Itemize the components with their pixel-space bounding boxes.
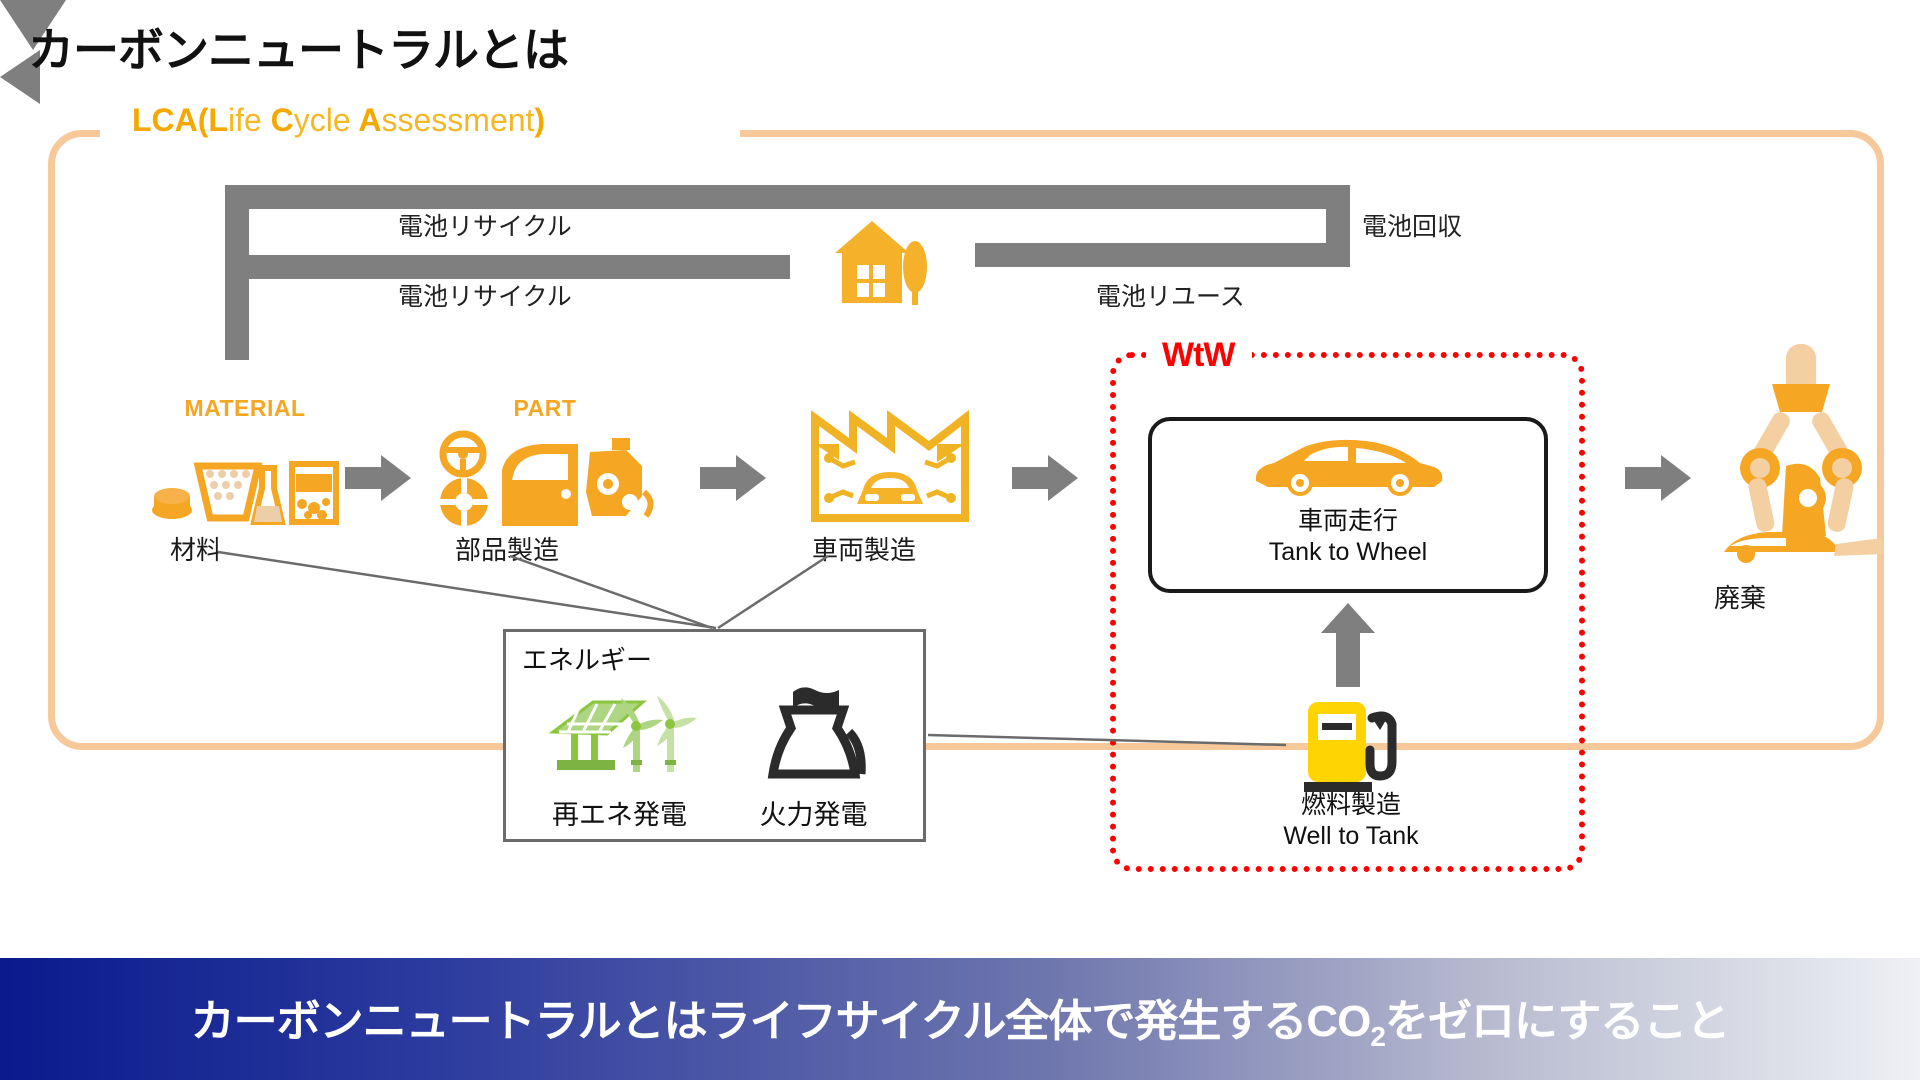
energy-thermal-label: 火力発電 [726, 793, 901, 832]
recycle-arrow-top-bar [225, 185, 1350, 209]
stage-part: PART [430, 395, 660, 535]
banner-text-after: をゼロにすること [1385, 997, 1729, 1046]
stage-vehicle [800, 400, 980, 530]
arrow-material-to-part [345, 455, 415, 501]
banner-co2-subscript: 2 [1370, 1021, 1385, 1052]
page-title: カーボンニュートラルとは [28, 14, 568, 80]
summary-banner-text: カーボンニュートラルとはライフサイクル全体で発生するCO2をゼロにすること [191, 985, 1730, 1053]
stage-part-caption: PART [430, 395, 660, 422]
tank-to-wheel-jp: 車両走行 [1269, 506, 1427, 537]
flow-label-collect: 電池回収 [1362, 207, 1462, 243]
part-icon [430, 422, 660, 535]
lca-a: A [358, 102, 381, 138]
well-to-tank-en: Well to Tank [1236, 821, 1466, 852]
energy-renewable-label: 再エネ発電 [532, 793, 707, 832]
lca-label: LCA(Life Cycle Assessment) [132, 102, 545, 139]
stage-label-part: 部品製造 [455, 530, 559, 567]
wtw-label: WtW [1162, 336, 1235, 375]
energy-thermal: 火力発電 [726, 684, 901, 832]
arrow-part-to-vehicle [700, 455, 770, 501]
tank-to-wheel-text: 車両走行 Tank to Wheel [1269, 506, 1427, 567]
lca-label-text: LCA( [132, 102, 208, 138]
lca-paren: ) [534, 102, 545, 138]
stage-label-dispose: 廃棄 [1714, 578, 1766, 615]
banner-text-before: カーボンニュートラルとはライフサイクル全体で発生するCO [191, 997, 1371, 1046]
energy-box: エネルギー [503, 629, 926, 842]
stage-label-vehicle: 車両製造 [812, 530, 916, 567]
material-icon [150, 422, 340, 532]
recycle-arrow-mid-bar [225, 255, 790, 279]
factory-icon [800, 400, 980, 530]
house-icon [825, 215, 940, 305]
well-to-tank-jp: 燃料製造 [1236, 790, 1466, 821]
fuel-pump-icon [1286, 690, 1416, 800]
tank-to-wheel-box: 車両走行 Tank to Wheel [1148, 417, 1548, 593]
arrow-vehicle-to-wtw [1012, 455, 1082, 501]
stage-label-material: 材料 [170, 530, 222, 567]
flow-label-reuse: 電池リユース [1096, 277, 1245, 313]
tank-to-wheel-en: Tank to Wheel [1269, 537, 1427, 568]
recycle-arrow-stem [225, 185, 249, 360]
flow-label-recycle-1: 電池リサイクル [398, 207, 572, 243]
flow-label-recycle-2: 電池リサイクル [398, 277, 572, 313]
collect-arrow-riser [1326, 185, 1350, 267]
slide-canvas: カーボンニュートラルとは LCA(Life Cycle Assessment) … [0, 0, 1920, 1080]
car-icon [1248, 429, 1448, 504]
arrow-wtw-to-dispose [1625, 455, 1695, 501]
summary-banner: カーボンニュートラルとはライフサイクル全体で発生するCO2をゼロにすること [0, 958, 1920, 1080]
well-to-tank-text: 燃料製造 Well to Tank [1236, 790, 1466, 851]
lca-c: C [271, 102, 294, 138]
energy-box-title: エネルギー [522, 640, 652, 677]
dismantling-robot-icon [1716, 338, 1886, 568]
lca-ycle: ycle [294, 102, 351, 138]
arrow-fuel-to-vehicle [1318, 603, 1378, 687]
energy-renewable: 再エネ発電 [532, 684, 707, 832]
reuse-arrow-bar [975, 243, 1335, 267]
stage-material: MATERIAL [150, 395, 340, 532]
lca-ife: ife [228, 102, 262, 138]
lca-l: L [208, 102, 228, 138]
stage-material-caption: MATERIAL [150, 395, 340, 422]
lca-ssessment: ssessment [381, 102, 534, 138]
